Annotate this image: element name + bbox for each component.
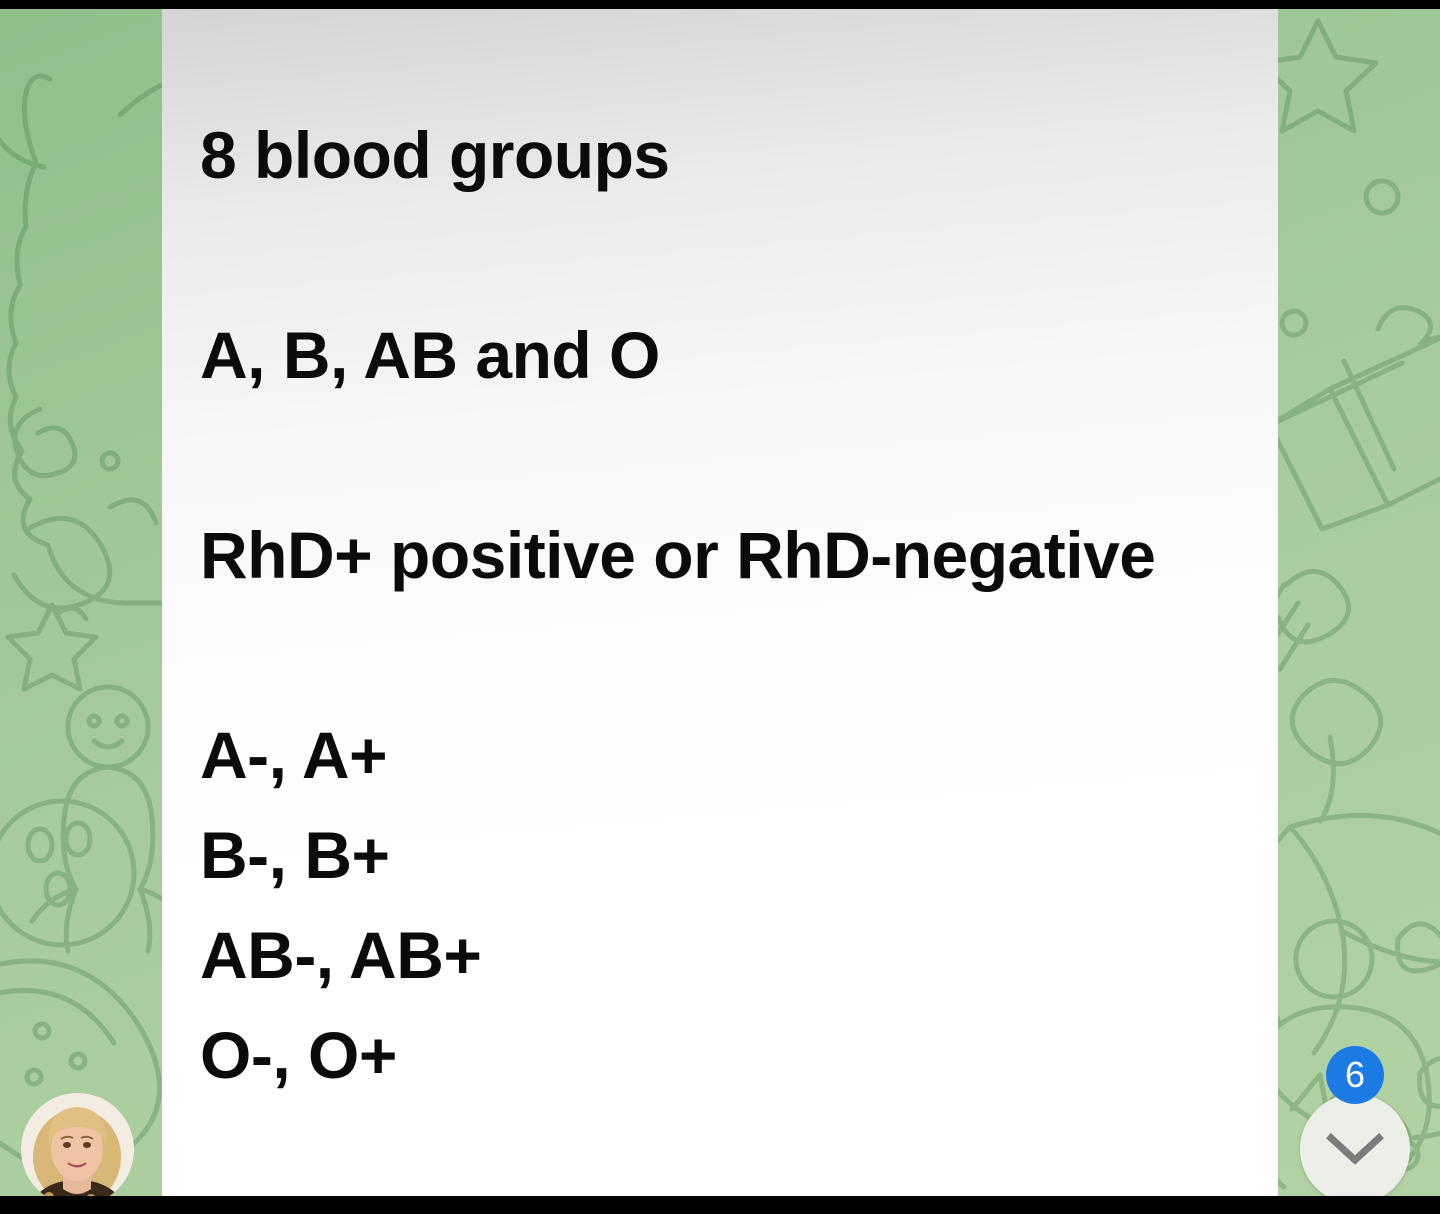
screen: 8 blood groups A, B, AB and O RhD+ posit… [0,0,1440,1214]
message-heading: 8 blood groups [200,105,1240,205]
message-text: 8 blood groups A, B, AB and O RhD+ posit… [200,9,1240,1105]
message-groups-line: A, B, AB and O [200,305,1240,405]
unread-count-badge: 6 [1326,1046,1384,1104]
blood-type-o: O-, O+ [200,1005,1240,1105]
message-bubble[interactable]: 8 blood groups A, B, AB and O RhD+ posit… [162,9,1278,1196]
blood-type-b: B-, B+ [200,805,1240,905]
gift-box-doodle [1270,308,1440,529]
scroll-to-bottom-button[interactable] [1300,1094,1410,1204]
chevron-down-icon [1326,1132,1384,1166]
spiral-doodle [14,409,156,619]
letterbox-top [0,0,1440,9]
avatar[interactable] [21,1093,134,1206]
blood-type-a: A-, A+ [200,705,1240,805]
blood-type-ab: AB-, AB+ [200,905,1240,1005]
message-rhd-line: RhD+ positive or RhD-negative [200,505,1240,605]
letterbox-bottom [0,1196,1440,1214]
